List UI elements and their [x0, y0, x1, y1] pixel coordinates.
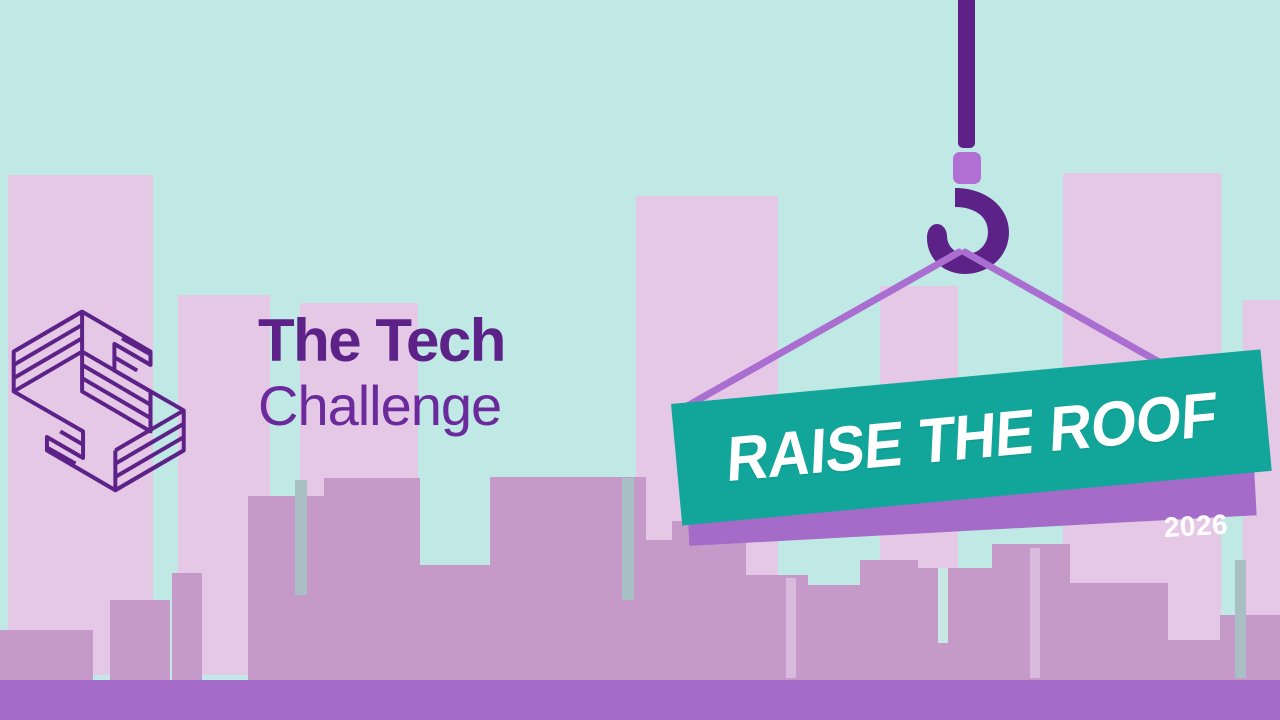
front-block-11 — [808, 585, 860, 680]
front-block-2 — [110, 600, 170, 680]
front-tower-13 — [918, 568, 992, 680]
crane-cable-icon — [958, 0, 975, 148]
window-strip-4 — [1235, 560, 1246, 678]
front-block-17 — [1220, 615, 1280, 680]
window-strip-2 — [622, 478, 634, 600]
wordmark: The Tech Challenge — [258, 312, 678, 434]
window-strip-6 — [1030, 548, 1040, 678]
the-tech-logo-icon — [8, 300, 198, 500]
front-block-3 — [172, 573, 202, 680]
front-block-5 — [324, 478, 420, 680]
banner-title: RAISE THE ROOF — [725, 378, 1218, 496]
page-title-line-2: Challenge — [258, 377, 678, 434]
front-block-4 — [248, 496, 324, 680]
front-block-1 — [0, 630, 93, 680]
front-tower-6 — [420, 565, 490, 680]
front-tower-12 — [860, 560, 918, 680]
poster-canvas: The Tech Challenge RAISE THE ROOF 2026 — [0, 0, 1280, 720]
front-tower-15 — [1070, 583, 1168, 680]
front-block-10 — [746, 575, 808, 680]
page-title-line-1: The Tech — [258, 312, 678, 371]
window-strip-3 — [938, 568, 948, 643]
ground-strip — [0, 680, 1280, 720]
crane-shackle-icon — [953, 152, 981, 184]
front-block-16 — [1168, 640, 1220, 680]
window-strip-1 — [295, 480, 307, 595]
window-strip-5 — [786, 578, 796, 678]
year-label: 2026 — [1163, 509, 1229, 544]
front-tower-8 — [646, 540, 672, 680]
